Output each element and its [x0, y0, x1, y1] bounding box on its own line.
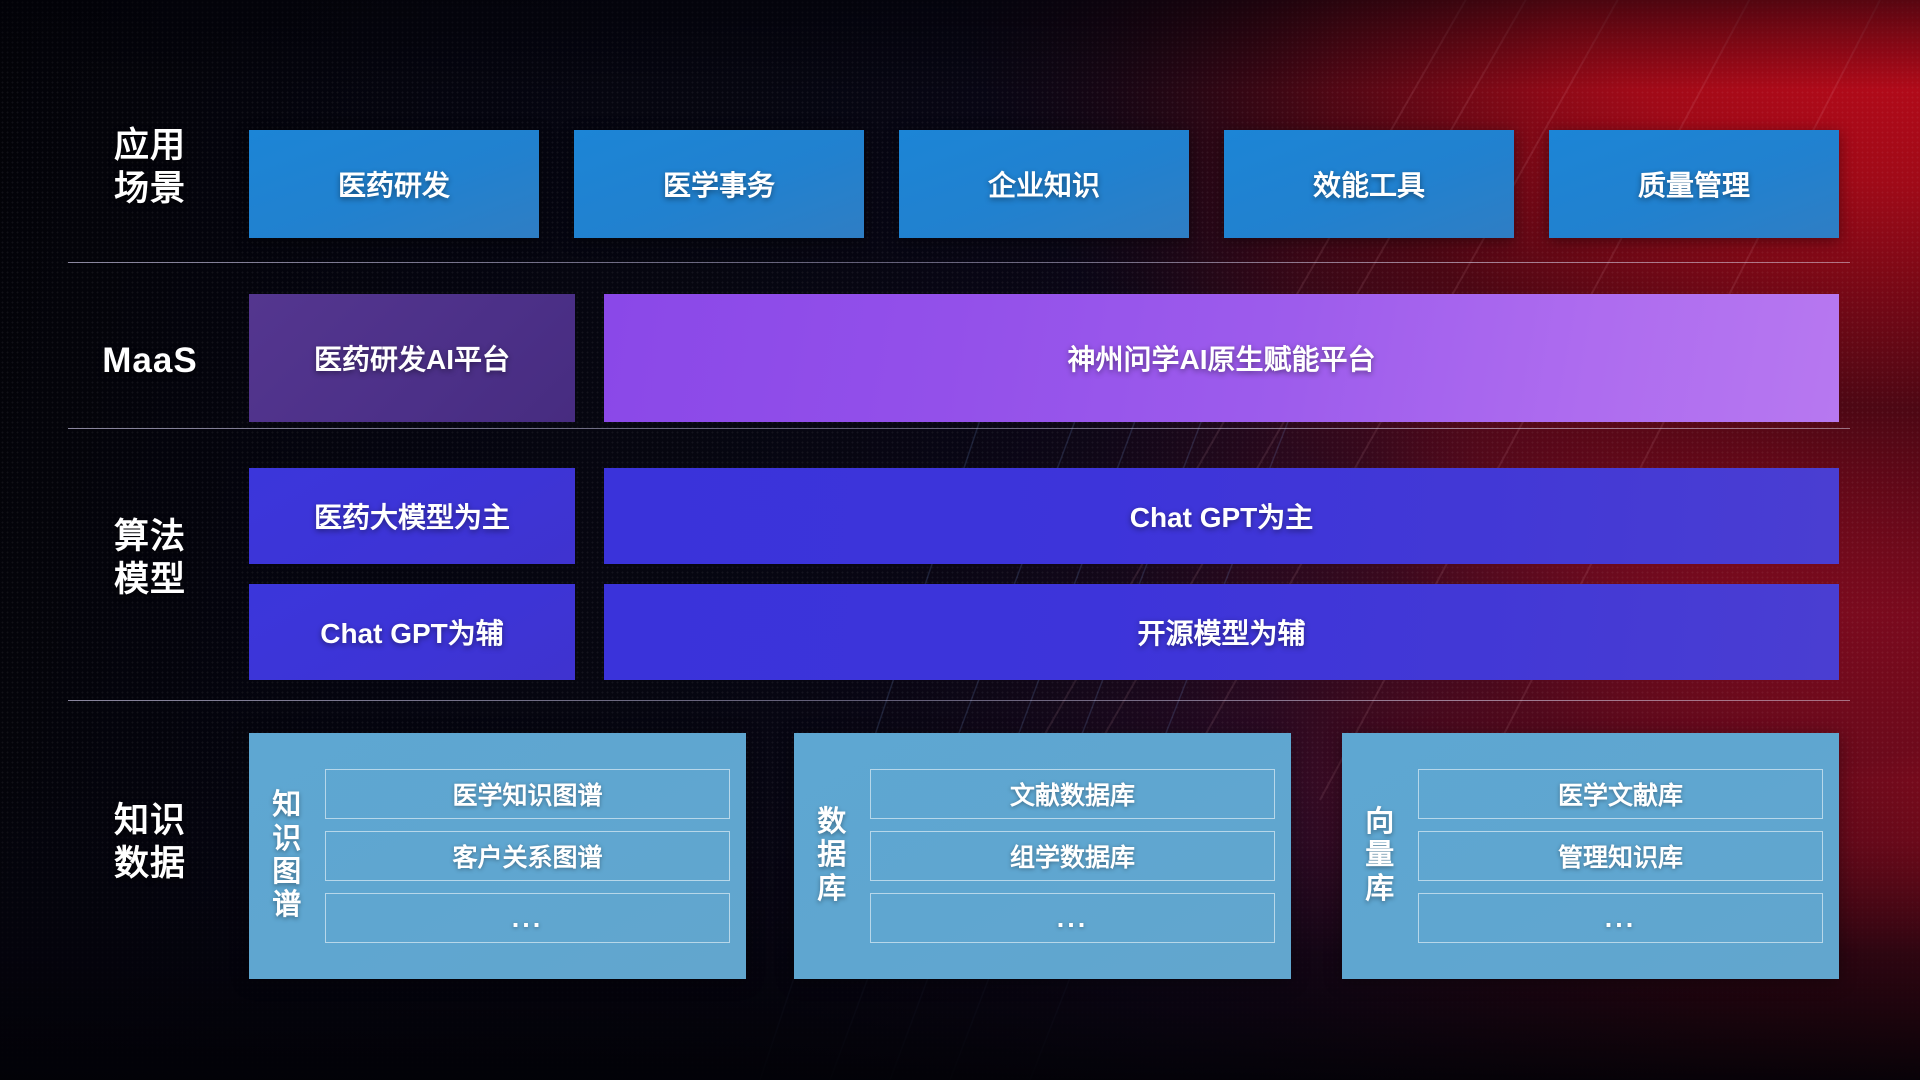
knowledge-group-0-item-0[interactable]: 医学知识图谱	[325, 769, 730, 819]
knowledge-group-1-side-char-1: 据	[794, 839, 870, 872]
row-label-knowledge-line-1: 知识	[60, 800, 240, 843]
app-box-3[interactable]: 效能工具	[1224, 130, 1514, 238]
app-box-4[interactable]: 质量管理	[1549, 130, 1839, 238]
row-label-knowledge-data: 知识 数据	[60, 800, 240, 885]
app-box-0[interactable]: 医药研发	[249, 130, 539, 238]
knowledge-group-2-item-1[interactable]: 管理知识库	[1418, 831, 1823, 881]
knowledge-group-2-items: 医学文献库 管理知识库 ...	[1418, 769, 1839, 943]
algo-box-chatgpt-primary[interactable]: Chat GPT为主	[604, 468, 1839, 564]
row-label-line-2: 场景	[60, 168, 240, 211]
knowledge-group-2-side-char-0: 向	[1342, 806, 1418, 839]
knowledge-group-1-item-0[interactable]: 文献数据库	[870, 769, 1275, 819]
row-label-application-scenario: 应用 场景	[60, 125, 240, 210]
knowledge-group-2-side-char-2: 库	[1342, 873, 1418, 906]
row-label-maas-text: MaaS	[60, 340, 240, 383]
row-label-line-1: 应用	[60, 125, 240, 168]
knowledge-group-database: 数 据 库 文献数据库 组学数据库 ...	[794, 733, 1291, 979]
knowledge-group-1-side-label: 数 据 库	[794, 806, 870, 906]
knowledge-group-knowledge-graph: 知 识 图 谱 医学知识图谱 客户关系图谱 ...	[249, 733, 746, 979]
knowledge-group-0-side-char-2: 图	[249, 856, 325, 889]
algo-box-chatgpt-secondary[interactable]: Chat GPT为辅	[249, 584, 575, 680]
row-label-algorithm-model: 算法 模型	[60, 516, 240, 601]
divider-3	[68, 700, 1850, 701]
app-box-2[interactable]: 企业知识	[899, 130, 1189, 238]
row-label-algo-line-2: 模型	[60, 559, 240, 602]
knowledge-group-1-side-char-0: 数	[794, 806, 870, 839]
knowledge-group-2-item-2[interactable]: ...	[1418, 893, 1823, 943]
knowledge-group-0-side-label: 知 识 图 谱	[249, 789, 325, 922]
knowledge-group-0-side-char-0: 知	[249, 789, 325, 822]
knowledge-group-0-side-char-3: 谱	[249, 889, 325, 922]
knowledge-group-1-item-2[interactable]: ...	[870, 893, 1275, 943]
algo-box-opensource-secondary[interactable]: 开源模型为辅	[604, 584, 1839, 680]
knowledge-group-0-item-1[interactable]: 客户关系图谱	[325, 831, 730, 881]
knowledge-group-1-side-char-2: 库	[794, 873, 870, 906]
knowledge-group-0-items: 医学知识图谱 客户关系图谱 ...	[325, 769, 746, 943]
knowledge-group-2-item-0[interactable]: 医学文献库	[1418, 769, 1823, 819]
knowledge-group-1-items: 文献数据库 组学数据库 ...	[870, 769, 1291, 943]
divider-2	[68, 428, 1850, 429]
knowledge-group-2-side-char-1: 量	[1342, 839, 1418, 872]
maas-box-shenzhou-wenxue-platform[interactable]: 神州问学AI原生赋能平台	[604, 294, 1839, 422]
knowledge-group-0-side-char-1: 识	[249, 823, 325, 856]
divider-1	[68, 262, 1850, 263]
algo-box-drug-model-primary[interactable]: 医药大模型为主	[249, 468, 575, 564]
row-label-algo-line-1: 算法	[60, 516, 240, 559]
diagram-canvas: 应用 场景 医药研发 医学事务 企业知识 效能工具 质量管理 MaaS 医药研发…	[0, 0, 1920, 1080]
maas-box-drug-rd-ai-platform[interactable]: 医药研发AI平台	[249, 294, 575, 422]
knowledge-group-0-item-2[interactable]: ...	[325, 893, 730, 943]
knowledge-group-1-item-1[interactable]: 组学数据库	[870, 831, 1275, 881]
row-label-maas: MaaS	[60, 340, 240, 383]
app-box-1[interactable]: 医学事务	[574, 130, 864, 238]
knowledge-group-2-side-label: 向 量 库	[1342, 806, 1418, 906]
row-label-knowledge-line-2: 数据	[60, 843, 240, 886]
knowledge-group-vector-database: 向 量 库 医学文献库 管理知识库 ...	[1342, 733, 1839, 979]
